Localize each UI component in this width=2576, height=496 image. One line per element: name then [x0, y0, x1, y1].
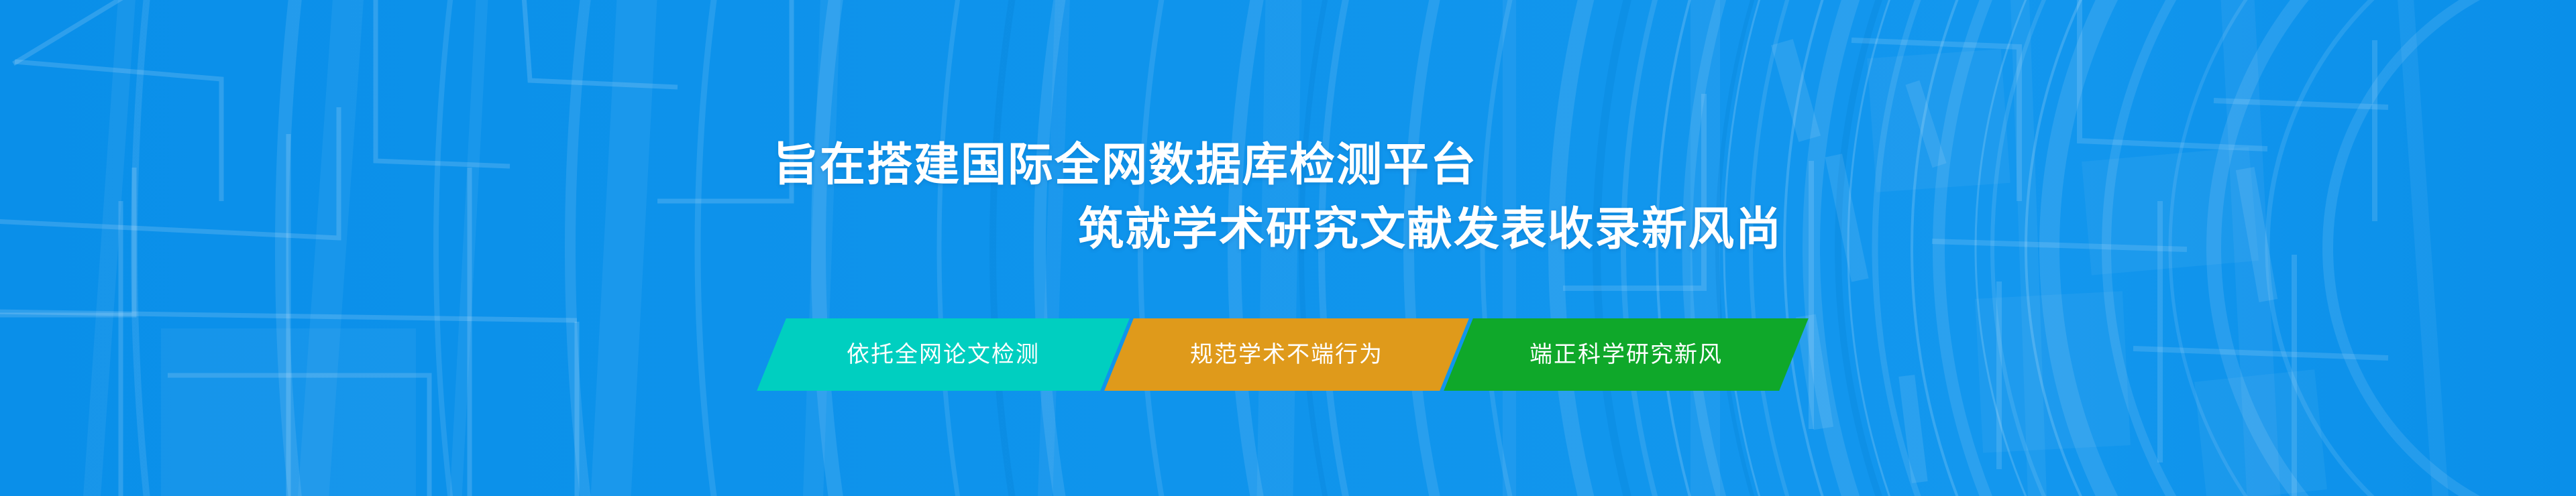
feature-tag-label: 规范学术不端行为 — [1190, 343, 1383, 366]
feature-tag-label: 端正科学研究新风 — [1529, 343, 1723, 366]
feature-tag-research-ethos[interactable]: 端正科学研究新风 — [1444, 318, 1809, 391]
feature-tag-label: 依托全网论文检测 — [847, 343, 1040, 366]
background-tech-pattern — [0, 0, 2576, 496]
feature-tag-misconduct-norms[interactable]: 规范学术不端行为 — [1104, 318, 1469, 391]
feature-tag-strip: 依托全网论文检测 规范学术不端行为 端正科学研究新风 — [771, 318, 1808, 391]
promo-banner: 旨在搭建国际全网数据库检测平台 筑就学术研究文献发表收录新风尚 依托全网论文检测… — [0, 0, 2576, 496]
feature-tag-paper-detection[interactable]: 依托全网论文检测 — [757, 318, 1130, 391]
